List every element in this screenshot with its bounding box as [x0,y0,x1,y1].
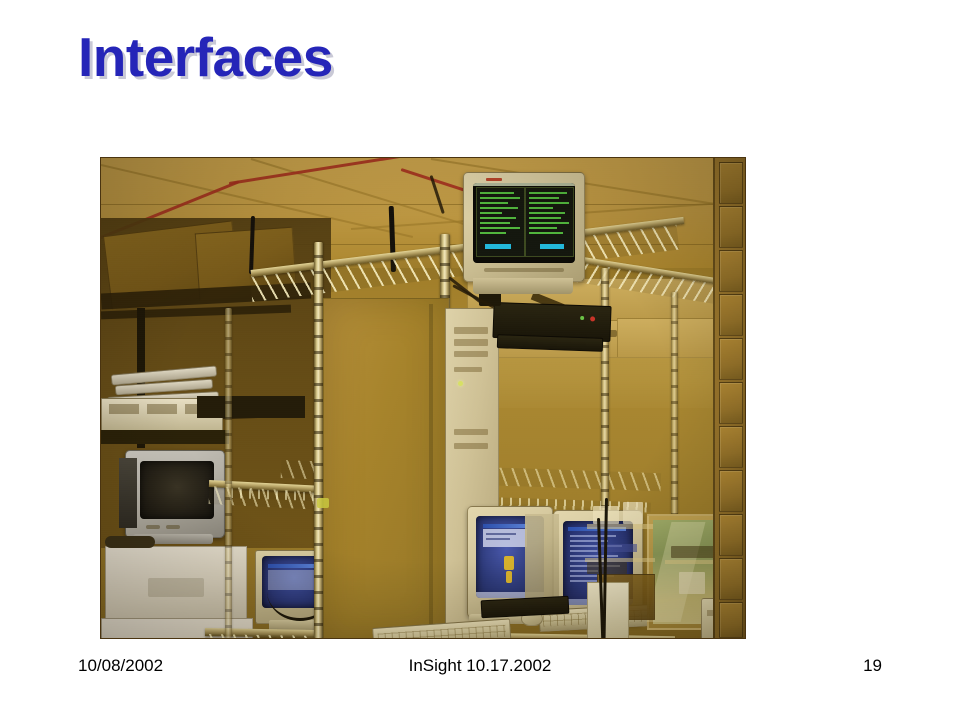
power-led [458,381,463,386]
stacked-box [719,558,743,600]
screen-glare [473,183,575,186]
stacked-box [719,250,743,292]
drive-bay [454,327,488,334]
dark-equipment [197,396,305,418]
tray-slot [147,404,177,414]
stacked-box [719,514,743,556]
crt-screen [140,461,214,519]
footer-page-number: 19 [863,656,882,676]
ceiling-seam [101,204,745,205]
stacked-box [719,602,743,638]
stacked-box [719,470,743,512]
monitor-button[interactable] [146,525,160,529]
desktop-icon [504,556,514,570]
box-label [148,578,204,597]
status-led-green [580,316,584,320]
monitor-brand-strip [484,268,564,272]
rack-post-left [314,242,323,638]
panel-seam [429,304,433,634]
footer-title: InSight 10.17.2002 [409,656,552,676]
panel-sticker [317,498,329,508]
stacked-box [719,338,743,380]
wall-monitor [463,172,585,282]
white-panel [587,582,629,638]
slide-photograph [101,158,745,638]
stacked-box [719,162,743,204]
tray-slot [109,404,139,414]
drive-bay [454,367,482,372]
monitor-side [119,458,137,528]
stacked-box [719,294,743,336]
drive-bay [454,351,488,357]
background-item-blue [597,544,637,552]
rack-post-far-left [225,308,232,638]
cable-coil [105,536,155,548]
stacked-box [719,206,743,248]
monitor-button[interactable] [166,525,180,529]
desktop-icon [506,571,512,583]
status-led-red [590,316,595,321]
window-titlebar [483,524,527,528]
monitor-base [473,278,573,294]
drive-bay [454,443,488,449]
drive-bay [454,429,488,435]
drive-bay [454,339,488,346]
stacked-box [719,382,743,424]
box-column-right [713,158,745,638]
presentation-slide: Interfaces [0,0,960,720]
photo-content [101,158,745,638]
wall-monitor-screen [473,183,575,263]
shelf-bar [101,430,229,444]
background-item [679,572,705,594]
background-item [623,502,643,524]
page-title: Interfaces [78,26,333,89]
terminal-window-right [525,187,574,257]
monitor-logo [486,178,502,181]
stacked-box [719,426,743,468]
terminal-window-left [476,187,525,257]
background-equipment [587,562,627,574]
footer-date: 10/08/2002 [78,656,163,676]
